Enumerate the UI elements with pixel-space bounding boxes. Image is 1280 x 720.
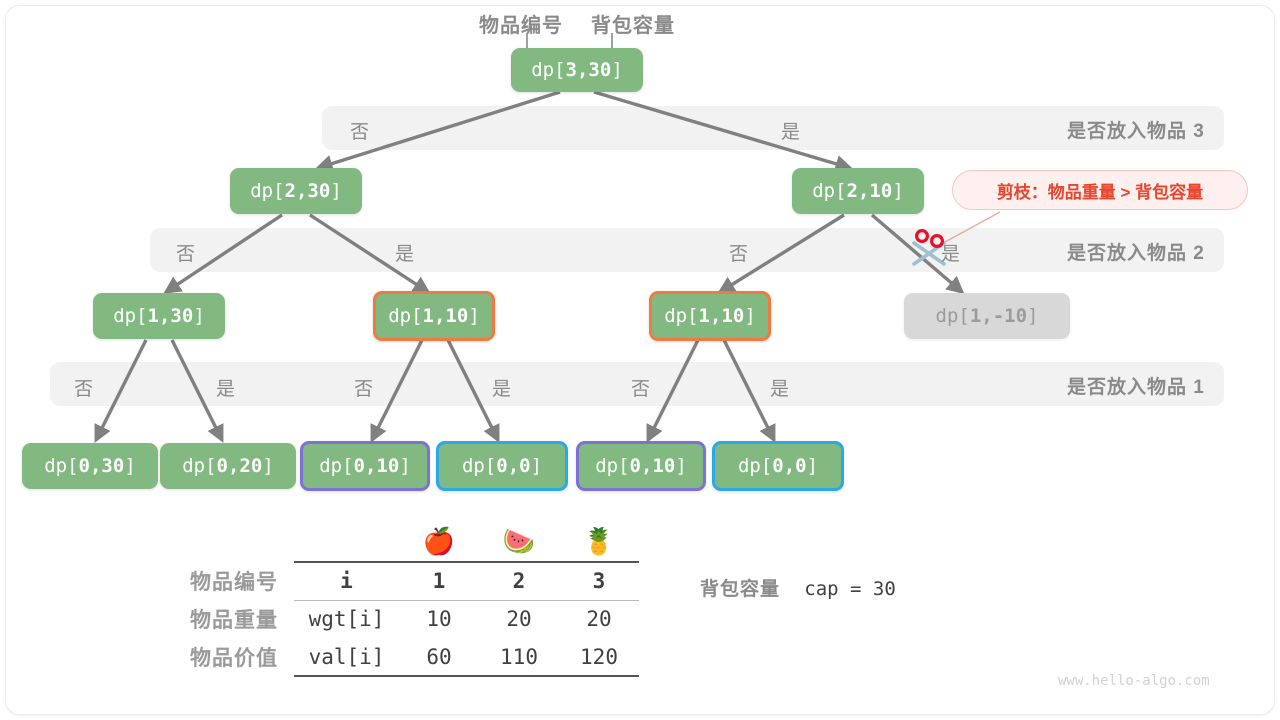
band-title-level-1: 是否放入物品 1 [1067,372,1205,399]
cell-val-2: 110 [479,638,559,676]
emoji-row-spacer [170,520,294,562]
row-label-item-weight: 物品重量 [170,600,294,638]
band-level-2 [150,228,1224,272]
leaf-dp-0-30[interactable]: dp[0,30] [22,443,158,489]
cell-wgt-3: 20 [559,600,639,638]
capacity-note-label: 背包容量 [700,579,780,600]
table-row: 物品价值 val[i] 60 110 120 [170,638,639,676]
cell-i-3: 3 [559,562,639,600]
capacity-note: 背包容量 cap = 30 [700,574,896,601]
label-bag-capacity: 背包容量 [591,9,675,38]
band-title-level-3: 是否放入物品 3 [1067,116,1205,143]
node-dp-1-10-left[interactable]: dp[1,10] [373,291,495,341]
node-dp-1-10-right[interactable]: dp[1,10] [649,291,771,341]
node-dp-2-30[interactable]: dp[2,30] [230,168,362,214]
edge-label-l3-yes-2: 是 [492,374,511,401]
table-row: 物品编号 i 1 2 3 [170,562,639,600]
edge-label-l3-no-1: 否 [74,374,93,401]
node-dp-2-10[interactable]: dp[2,10] [792,168,924,214]
cell-val-1: 60 [399,638,479,676]
watermark: www.hello-algo.com [1058,673,1210,689]
edge-label-l1-no: 否 [350,117,369,144]
edge-label-l3-no-3: 否 [631,374,650,401]
row-label-item-index: 物品编号 [170,562,294,600]
edge-label-l2-no-b: 否 [729,239,748,266]
leaf-dp-0-0-first[interactable]: dp[0,0] [436,441,568,491]
cell-wgt-2: 20 [479,600,559,638]
leaf-dp-0-20[interactable]: dp[0,20] [160,443,296,489]
cell-key-i: i [294,562,399,600]
edge-label-l1-yes: 是 [781,117,800,144]
item-table-wrap: 🍎 🍉 🍍 物品编号 i 1 2 3 物品重量 wgt[i] 10 20 20 … [170,520,639,677]
cell-i-1: 1 [399,562,479,600]
emoji-apple-icon: 🍎 [399,520,479,562]
cell-key-wgt: wgt[i] [294,600,399,638]
emoji-key-spacer [294,520,399,562]
label-item-index: 物品编号 [479,9,563,38]
leaf-dp-0-10-second[interactable]: dp[0,10] [576,441,706,491]
band-title-level-2: 是否放入物品 2 [1067,238,1205,265]
capacity-note-value: cap = 30 [804,578,896,600]
node-dp-1-neg10-pruned: dp[1,-10] [904,293,1070,339]
item-table: 🍎 🍉 🍍 物品编号 i 1 2 3 物品重量 wgt[i] 10 20 20 … [170,520,639,677]
edge-label-l3-no-2: 否 [354,374,373,401]
edge-label-l3-yes-3: 是 [770,374,789,401]
emoji-watermelon-icon: 🍉 [479,520,559,562]
edge-label-l2-yes-a: 是 [395,239,414,266]
cell-wgt-1: 10 [399,600,479,638]
prune-callout: 剪枝：物品重量 > 背包容量 [952,170,1248,210]
leaf-dp-0-10-first[interactable]: dp[0,10] [300,441,430,491]
row-label-item-value: 物品价值 [170,638,294,676]
table-emoji-row: 🍎 🍉 🍍 [170,520,639,562]
table-row: 物品重量 wgt[i] 10 20 20 [170,600,639,638]
leaf-dp-0-0-second[interactable]: dp[0,0] [712,441,844,491]
cell-val-3: 120 [559,638,639,676]
diagram-canvas: 物品编号 背包容量 是否放入物品 3 是否放入物品 2 是否放入物品 1 否 是… [0,0,1280,720]
node-dp-1-30[interactable]: dp[1,30] [93,293,225,339]
edge-label-l2-no-a: 否 [176,239,195,266]
emoji-pineapple-icon: 🍍 [559,520,639,562]
edge-label-l3-yes-1: 是 [216,374,235,401]
cell-key-val: val[i] [294,638,399,676]
node-dp-3-30[interactable]: dp[3,30] [511,48,643,92]
edge-label-l2-yes-b: 是 [941,239,960,266]
cell-i-2: 2 [479,562,559,600]
